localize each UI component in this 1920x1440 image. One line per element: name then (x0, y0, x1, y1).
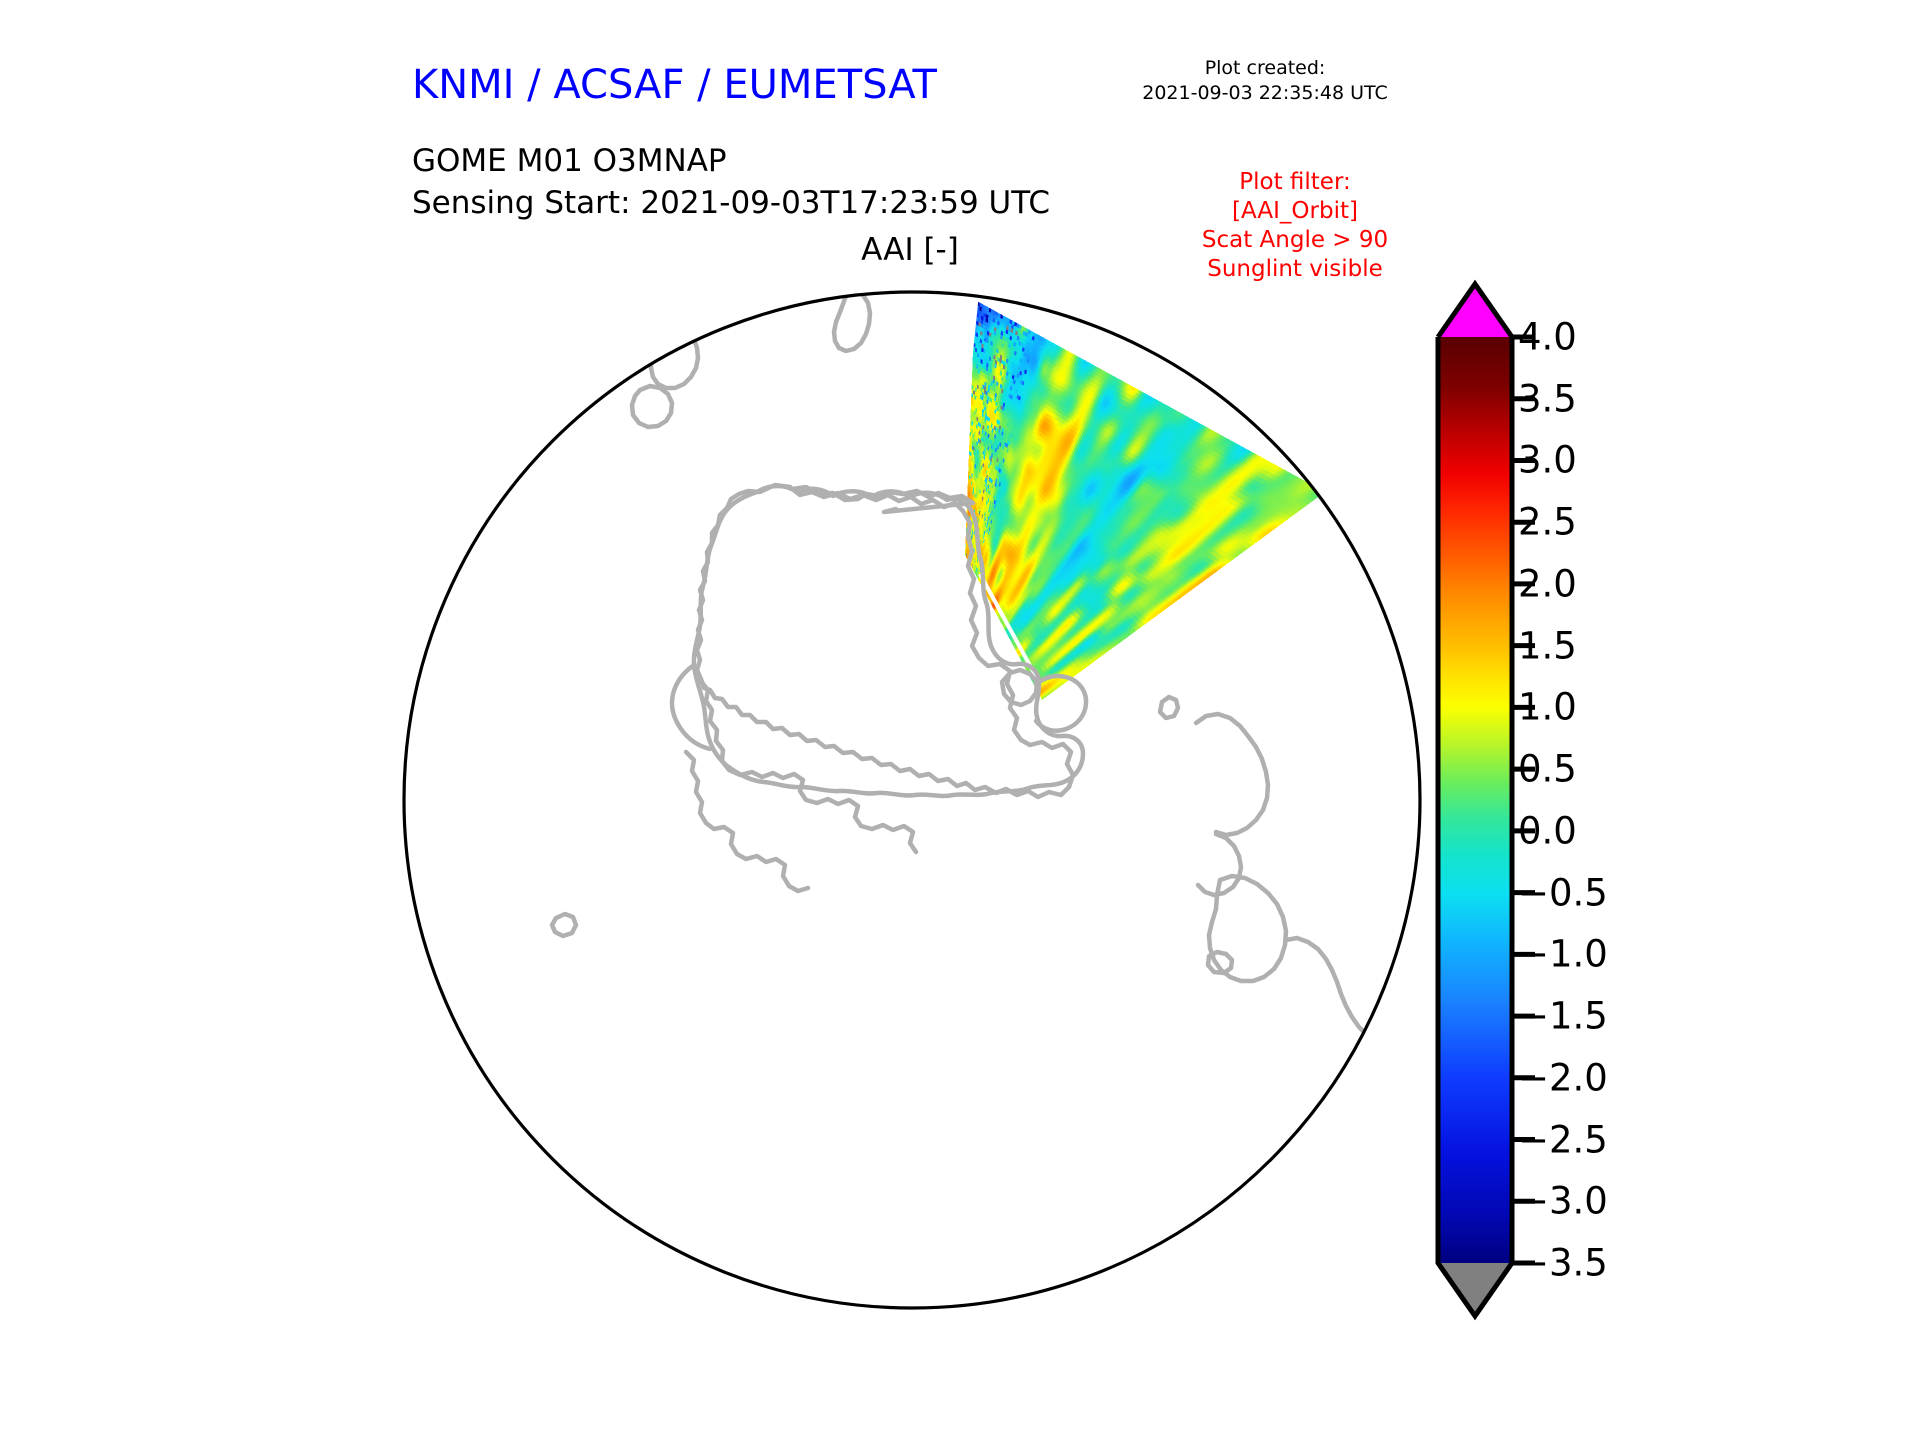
colorbar-over-arrow (1438, 284, 1512, 337)
colorbar-tick-label: 0.0 (1518, 809, 1577, 852)
coastlines (519, 292, 1367, 1035)
colorbar-tick-label: 3.0 (1518, 439, 1577, 482)
coastline-path (632, 386, 672, 427)
coastline-path (552, 914, 576, 936)
coastline-path (651, 322, 698, 388)
colorbar-under-arrow (1438, 1263, 1512, 1316)
colorbar-tick-label: 2.5 (1518, 501, 1577, 544)
data-swath (941, 294, 1325, 700)
colorbar-tick-label: 1.0 (1518, 686, 1577, 729)
colorbar-tick-label: −1.0 (1518, 933, 1608, 976)
colorbar-graphic (1425, 270, 1725, 1330)
colorbar-tick-label: 4.0 (1518, 316, 1577, 359)
colorbar-tick-label: −1.5 (1518, 995, 1608, 1038)
coastline-path (1160, 697, 1178, 718)
colorbar-tick-label: 1.5 (1518, 624, 1577, 667)
colorbar-tick-label: −0.5 (1518, 871, 1608, 914)
colorbar-tick-label: 0.5 (1518, 748, 1577, 791)
plot-page: KNMI / ACSAF / EUMETSAT Plot created: 20… (0, 0, 1920, 1440)
colorbar-tick-label: 3.5 (1518, 377, 1577, 420)
coastline-path (519, 375, 561, 417)
colorbar-tick-label: −2.5 (1518, 1118, 1608, 1161)
coastline-path (1286, 938, 1367, 1035)
coastline-path (834, 292, 870, 351)
colorbar: 4.03.53.02.52.01.51.00.50.0−0.5−1.0−1.5−… (1425, 270, 1725, 1330)
colorbar-tick-label: −3.5 (1518, 1242, 1608, 1285)
colorbar-gradient-bar (1438, 337, 1512, 1263)
colorbar-tick-label: −2.0 (1518, 1056, 1608, 1099)
colorbar-tick-label: 2.0 (1518, 562, 1577, 605)
colorbar-tick-label: −3.0 (1518, 1180, 1608, 1223)
coastline-path (1196, 714, 1268, 835)
